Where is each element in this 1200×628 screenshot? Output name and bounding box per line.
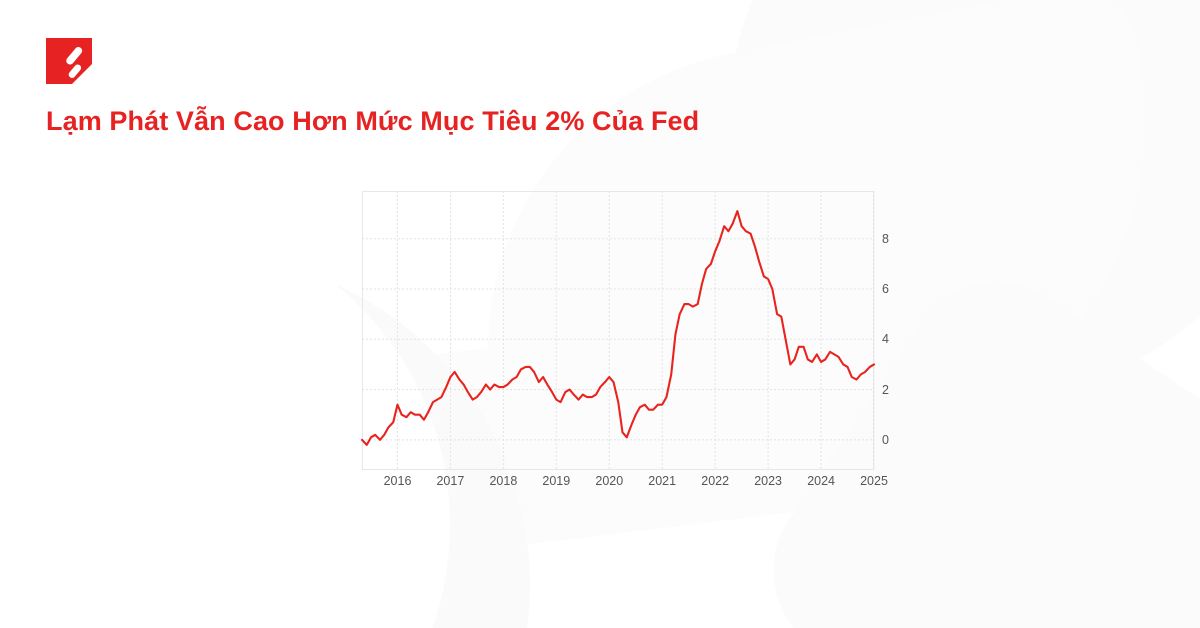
y-axis-tick-label: 0 [882, 433, 889, 447]
header: Lạm Phát Vẫn Cao Hơn Mức Mục Tiêu 2% Của… [46, 38, 1046, 84]
x-axis-tick-label: 2022 [701, 474, 729, 488]
x-axis-tick-label: 2023 [754, 474, 782, 488]
x-axis-tick-label: 2019 [542, 474, 570, 488]
y-axis-tick-label: 8 [882, 232, 889, 246]
x-axis-tick-label: 2021 [648, 474, 676, 488]
chart-series-line [362, 191, 874, 470]
x-axis-tick-label: 2025 [860, 474, 888, 488]
y-axis-tick-label: 2 [882, 383, 889, 397]
series-path [362, 211, 874, 445]
y-axis-tick-label: 6 [882, 282, 889, 296]
x-axis-tick-label: 2020 [595, 474, 623, 488]
y-axis-tick-label: 4 [882, 332, 889, 346]
x-axis-tick-label: 2017 [436, 474, 464, 488]
infographic-page: Lạm Phát Vẫn Cao Hơn Mức Mục Tiêu 2% Của… [0, 0, 1200, 628]
x-axis-tick-labels: 2016201720182019202020212022202320242025 [362, 474, 874, 496]
brand-logo-icon [46, 38, 92, 84]
x-axis-tick-label: 2016 [384, 474, 412, 488]
inflation-line-chart: 02468 2016201720182019202020212022202320… [362, 191, 874, 470]
y-axis-tick-labels: 02468 [882, 191, 922, 470]
x-axis-tick-label: 2024 [807, 474, 835, 488]
x-axis-tick-label: 2018 [489, 474, 517, 488]
page-title: Lạm Phát Vẫn Cao Hơn Mức Mục Tiêu 2% Của… [46, 104, 699, 138]
